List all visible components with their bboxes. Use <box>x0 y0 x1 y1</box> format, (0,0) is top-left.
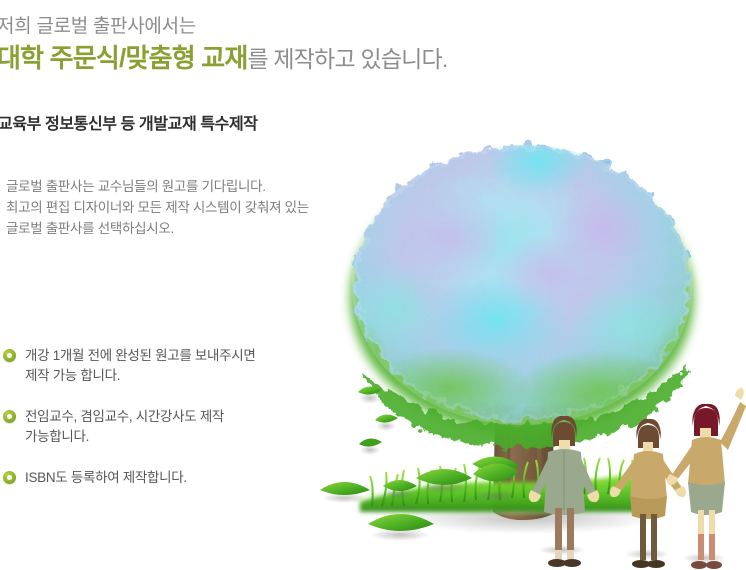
list-item-line: 개강 1개월 전에 완성된 원고를 보내주시면 <box>25 346 333 366</box>
body-copy: 글로벌 출판사는 교수님들의 원고를 기다립니다. 최고의 편집 디자이너와 모… <box>6 176 309 239</box>
green-ring-bullet-icon <box>3 471 16 484</box>
green-ring-bullet-icon <box>3 349 16 362</box>
leaf <box>375 414 398 431</box>
leaf <box>416 469 472 494</box>
body-copy-line: 글로벌 출판사를 선택하십시오. <box>6 218 309 239</box>
list-item-line: 전임교수, 겸임교수, 시간강사도 제작 <box>25 407 333 427</box>
headline-line-2: 대학 주문식/맞춤형 교재를 제작하고 있습니다. <box>0 41 557 76</box>
tree-with-three-people-illustration <box>300 120 746 570</box>
promo-page: 저희 글로벌 출판사에서는 대학 주문식/맞춤형 교재를 제작하고 있습니다. … <box>0 0 746 570</box>
list-item-text: 전임교수, 겸임교수, 시간강사도 제작 가능합니다. <box>25 407 333 447</box>
headline-rest-text: 를 제작하고 있습니다. <box>247 46 447 72</box>
subheading: 교육부 정보통신부 등 개발교재 특수제작 <box>0 110 258 134</box>
body-copy-line: 최고의 편집 디자이너와 모든 제작 시스템이 갖춰져 있는 <box>6 197 309 218</box>
list-item: 전임교수, 겸임교수, 시간강사도 제작 가능합니다. <box>3 407 333 447</box>
bullet-list: 개강 1개월 전에 완성된 원고를 보내주시면 제작 가능 합니다. 전임교수,… <box>3 346 333 509</box>
person-right-waving <box>667 388 746 569</box>
canopy-leaf-texture <box>352 145 692 425</box>
leaf <box>358 386 382 404</box>
list-item-line: ISBN도 등록하여 제작합니다. <box>25 468 333 488</box>
list-item-line: 제작 가능 합니다. <box>25 366 333 386</box>
leaf <box>359 438 382 455</box>
body-copy-line: 글로벌 출판사는 교수님들의 원고를 기다립니다. <box>6 176 309 197</box>
headline-block: 저희 글로벌 출판사에서는 대학 주문식/맞춤형 교재를 제작하고 있습니다. <box>0 14 557 76</box>
list-item: 개강 1개월 전에 완성된 원고를 보내주시면 제작 가능 합니다. <box>3 346 333 386</box>
list-item-line: 가능합니다. <box>25 427 333 447</box>
green-ring-bullet-icon <box>3 410 16 423</box>
leaf <box>320 482 370 503</box>
headline-accent-text: 대학 주문식/맞춤형 교재 <box>0 43 247 73</box>
list-item-text: 개강 1개월 전에 완성된 원고를 보내주시면 제작 가능 합니다. <box>25 346 333 386</box>
headline-line-1: 저희 글로벌 출판사에서는 <box>0 14 557 39</box>
list-item-text: ISBN도 등록하여 제작합니다. <box>25 468 333 488</box>
list-item: ISBN도 등록하여 제작합니다. <box>3 468 333 488</box>
